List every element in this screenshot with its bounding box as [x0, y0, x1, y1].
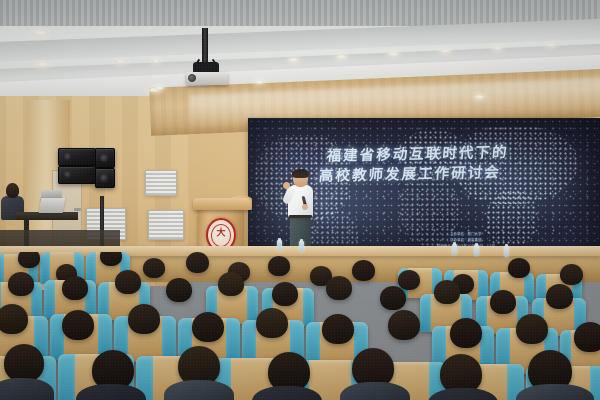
downlight	[388, 52, 399, 56]
av-technician-head	[6, 183, 19, 198]
audience-head	[352, 260, 375, 281]
audience-head	[62, 310, 94, 340]
audience-head	[115, 270, 141, 294]
audience-head	[574, 322, 600, 352]
downlight	[115, 59, 127, 64]
audience-head	[516, 314, 548, 344]
audience-head	[166, 278, 192, 302]
ventilation-grille	[148, 210, 184, 240]
door-handle-icon[interactable]	[74, 208, 81, 211]
downlight	[152, 59, 160, 63]
audience-head	[490, 290, 516, 314]
audience-head	[388, 310, 420, 340]
audience-head	[326, 276, 352, 300]
audience-head	[268, 256, 290, 276]
audience-head	[128, 304, 160, 334]
audience-head	[322, 314, 354, 344]
downlight	[255, 80, 264, 84]
audience-head	[0, 304, 28, 334]
projector-lens-icon	[188, 74, 196, 82]
water-bottle	[277, 240, 282, 251]
laptop[interactable]	[39, 198, 66, 213]
audience-head	[18, 252, 40, 268]
audience-head	[4, 344, 44, 382]
lectern-top	[193, 198, 251, 210]
conference-title: 福建省移动互联时代下的 高校教师发展工作研讨会	[318, 141, 598, 187]
downlight	[155, 86, 164, 90]
audience-shoulders	[164, 380, 234, 400]
downlight	[492, 46, 503, 50]
conference-hall-photo: 福建省移动互联时代下的 高校教师发展工作研讨会 主办单位：厦门大学 协办单位：超…	[0, 0, 600, 400]
downlight	[440, 49, 451, 53]
audience-seating	[0, 252, 600, 400]
crest-glyph: 大	[216, 230, 225, 239]
audience-head	[192, 312, 224, 342]
audience-head	[143, 258, 165, 278]
audience-head	[560, 264, 583, 285]
audience-head	[8, 272, 34, 296]
audience-head	[450, 318, 482, 348]
loudspeaker	[58, 148, 96, 166]
downlight	[288, 58, 299, 62]
audience-head	[380, 286, 406, 310]
loudspeaker	[58, 166, 96, 184]
presenter-raised-hand	[283, 182, 290, 189]
audience-head	[434, 280, 460, 304]
audience-head	[62, 276, 88, 300]
downlight	[36, 62, 49, 67]
presenter-belt	[289, 215, 312, 218]
audience-head	[508, 258, 530, 278]
loudspeaker	[95, 168, 115, 188]
audience-head	[398, 270, 420, 290]
presenter-mic-hand	[302, 204, 308, 210]
water-bottle	[299, 241, 304, 252]
audience-head	[256, 308, 288, 338]
audience-head	[218, 272, 244, 296]
presenter-hair	[292, 169, 309, 178]
audience-head	[546, 284, 573, 309]
downlight	[336, 55, 347, 59]
audience-head	[272, 282, 298, 306]
ventilation-grille	[145, 170, 177, 196]
loudspeaker	[95, 148, 115, 168]
downlight	[33, 30, 48, 36]
audience-head	[186, 252, 209, 273]
downlight	[475, 95, 484, 99]
downlight	[545, 43, 556, 47]
